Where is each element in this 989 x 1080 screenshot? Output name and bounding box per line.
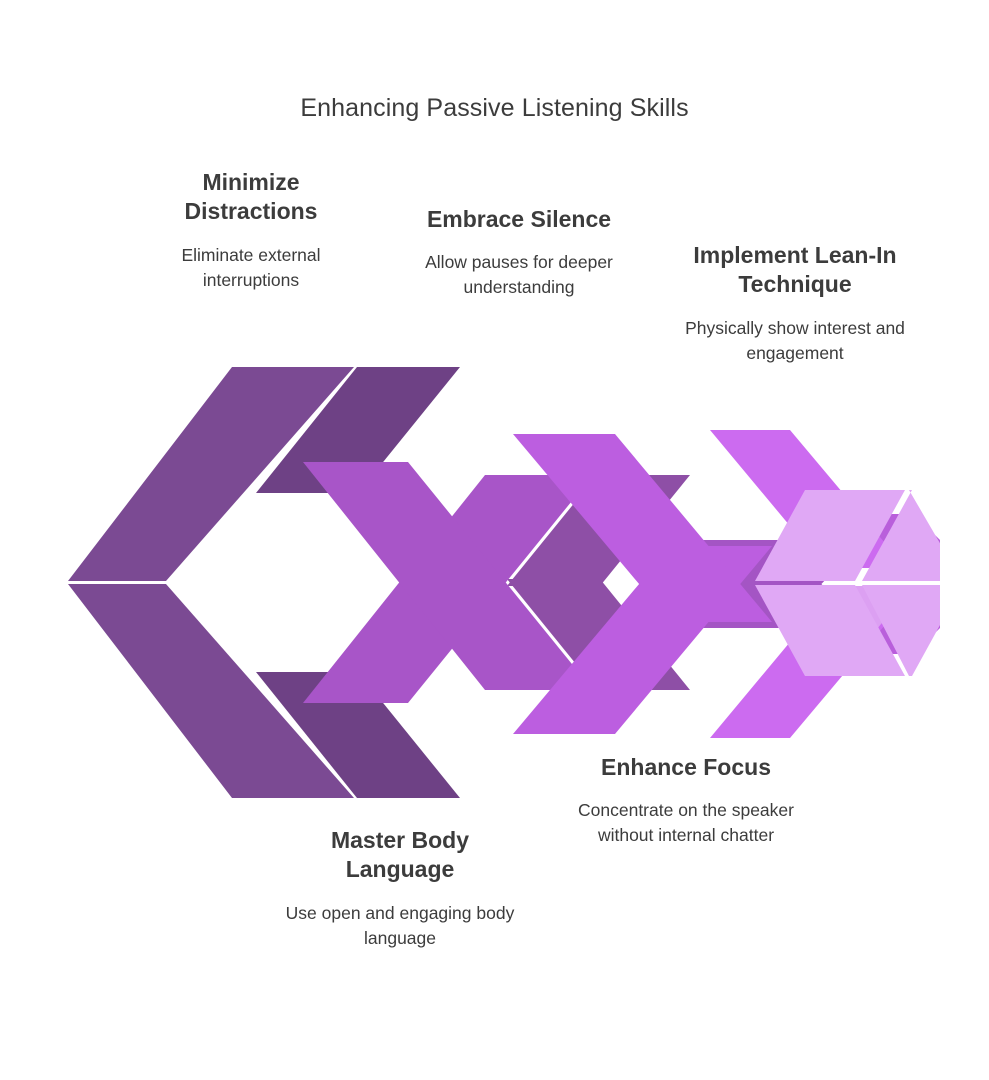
step-label-enhance-focus: Enhance Focus Concentrate on the speaker… xyxy=(562,753,810,848)
step-description: Physically show interest and engagement xyxy=(680,316,910,366)
step-description: Use open and engaging body language xyxy=(276,901,524,951)
step-label-minimize-distractions: Minimize Distractions Eliminate external… xyxy=(140,168,362,293)
infographic-canvas: Enhancing Passive Listening Skills xyxy=(0,0,989,1080)
step-title: Master Body Language xyxy=(276,826,524,885)
step-description: Allow pauses for deeper understanding xyxy=(404,250,634,300)
step-title: Enhance Focus xyxy=(562,753,810,782)
step-title: Embrace Silence xyxy=(404,205,634,234)
step-label-master-body-language: Master Body Language Use open and engagi… xyxy=(276,826,524,951)
step-label-embrace-silence: Embrace Silence Allow pauses for deeper … xyxy=(404,205,634,300)
step-title: Minimize Distractions xyxy=(140,168,362,227)
step-description: Eliminate external interruptions xyxy=(140,243,362,293)
chevron-diagram xyxy=(60,350,940,820)
step-title: Implement Lean-In Technique xyxy=(680,241,910,300)
page-title: Enhancing Passive Listening Skills xyxy=(0,93,989,123)
step-description: Concentrate on the speaker without inter… xyxy=(562,798,810,848)
step-label-implement-lean-in-technique: Implement Lean-In Technique Physically s… xyxy=(680,241,910,366)
